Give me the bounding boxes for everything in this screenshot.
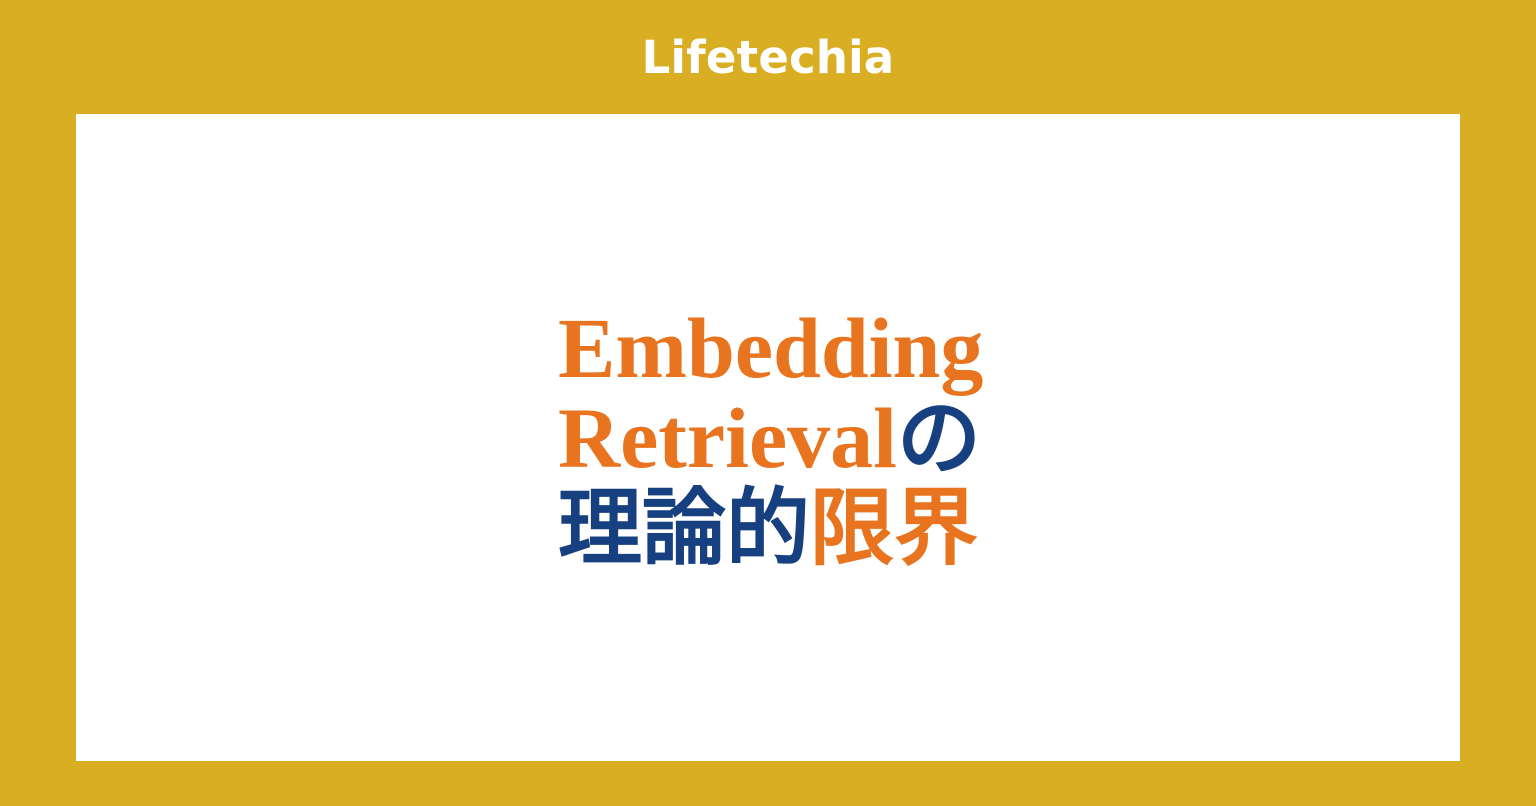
headline-segment-embedding: Embedding — [558, 300, 983, 396]
headline-segment-no: の — [897, 388, 981, 487]
headline-segment-genkai: 限界 — [810, 478, 978, 577]
headline-line-2: Retrievalの — [558, 393, 978, 483]
brand-title: Lifetechia — [642, 35, 895, 80]
headline-segment-retrieval: Retrieval — [558, 390, 897, 486]
headline-segment-rironteki: 理論的 — [558, 478, 810, 577]
headline-line-3: 理論的限界 — [558, 483, 978, 573]
page-title: Embedding Retrievalの 理論的限界 — [558, 303, 978, 573]
headline-line-1: Embedding — [558, 303, 978, 393]
slide-canvas: Lifetechia Embedding Retrievalの 理論的限界 — [0, 0, 1536, 806]
brand-header: Lifetechia — [0, 0, 1536, 114]
content-card: Embedding Retrievalの 理論的限界 — [76, 114, 1460, 761]
